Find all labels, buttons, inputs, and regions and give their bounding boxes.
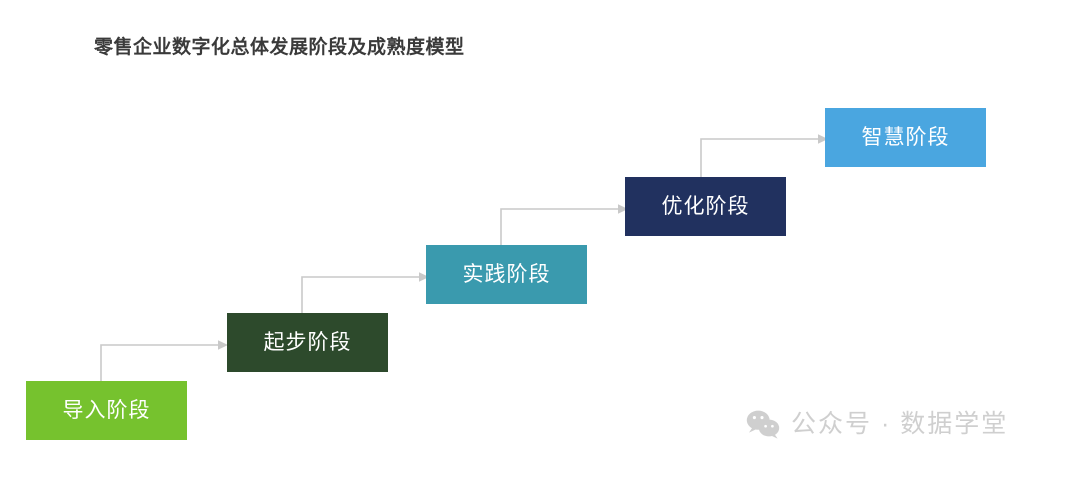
- stage-label-3: 实践阶段: [463, 264, 551, 286]
- connector-stage3-to-stage4: [500, 203, 632, 249]
- connector-stage4-to-stage5: [700, 133, 832, 179]
- stage-label-4: 优化阶段: [662, 196, 750, 218]
- stage-box-4-optimize[interactable]: 优化阶段: [625, 177, 786, 236]
- stage-box-1-import[interactable]: 导入阶段: [26, 381, 187, 440]
- stage-box-3-practice[interactable]: 实践阶段: [426, 245, 587, 304]
- stage-label-2: 起步阶段: [264, 332, 352, 354]
- page-title: 零售企业数字化总体发展阶段及成熟度模型: [94, 32, 465, 59]
- stage-box-2-startup[interactable]: 起步阶段: [227, 313, 388, 372]
- stage-label-1: 导入阶段: [63, 400, 151, 422]
- connector-stage1-to-stage2: [100, 339, 232, 385]
- diagram-canvas: 零售企业数字化总体发展阶段及成熟度模型 导入阶段 起步阶段: [0, 0, 1080, 480]
- wechat-icon: [746, 409, 780, 439]
- watermark: 公众号 · 数据学堂: [746, 409, 1008, 439]
- connector-stage2-to-stage3: [301, 271, 433, 317]
- watermark-text: 公众号 · 数据学堂: [791, 412, 1008, 437]
- stage-label-5: 智慧阶段: [862, 127, 950, 149]
- stage-box-5-intelligent[interactable]: 智慧阶段: [825, 108, 986, 167]
